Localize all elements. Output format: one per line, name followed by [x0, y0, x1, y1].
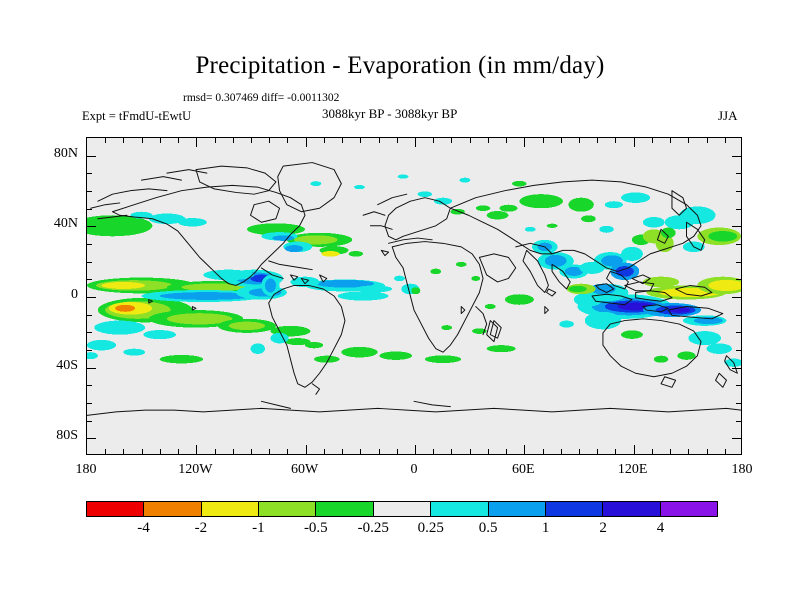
x-tick-top — [524, 138, 525, 147]
y-tick — [87, 262, 92, 263]
colorbar-band-4 — [316, 502, 373, 516]
y-tick — [87, 173, 92, 174]
x-tick-top — [597, 138, 598, 143]
x-tick — [597, 449, 598, 454]
x-tick-top — [634, 138, 635, 147]
x-tick-top — [178, 138, 179, 143]
colorbar-band-10 — [661, 502, 717, 516]
colorbar-tick-label: 0.25 — [401, 520, 461, 537]
x-tick — [105, 449, 106, 454]
y-tick-right — [736, 209, 741, 210]
x-axis-label: 120E — [593, 462, 673, 478]
y-tick-right — [736, 191, 741, 192]
colorbar-tick-label: 4 — [631, 520, 691, 537]
colorbar-band-0 — [87, 502, 144, 516]
x-tick-top — [251, 138, 252, 143]
y-tick-right — [732, 438, 741, 439]
x-tick-top — [433, 138, 434, 143]
y-tick-right — [732, 156, 741, 157]
y-tick-right — [736, 332, 741, 333]
colorbar-band-2 — [202, 502, 259, 516]
map-svg — [87, 138, 741, 454]
x-tick — [251, 449, 252, 454]
y-axis-label: 0 — [32, 287, 78, 303]
colorbar-band-1 — [144, 502, 201, 516]
x-tick-top — [360, 138, 361, 143]
x-axis-label: 120W — [155, 462, 235, 478]
x-tick-top — [579, 138, 580, 143]
x-tick-top — [215, 138, 216, 143]
x-tick — [360, 449, 361, 454]
x-tick — [707, 449, 708, 454]
x-tick — [215, 449, 216, 454]
x-tick — [415, 445, 416, 454]
x-tick — [670, 449, 671, 454]
y-tick-right — [736, 262, 741, 263]
x-tick — [561, 449, 562, 454]
x-tick-top — [652, 138, 653, 143]
y-tick — [87, 156, 96, 157]
y-tick-right — [736, 350, 741, 351]
x-tick — [123, 449, 124, 454]
y-tick — [87, 350, 92, 351]
y-tick — [87, 226, 96, 227]
y-tick-right — [732, 297, 741, 298]
y-tick — [87, 191, 92, 192]
x-tick-top — [379, 138, 380, 143]
x-tick — [160, 449, 161, 454]
y-tick — [87, 332, 92, 333]
x-tick-top — [725, 138, 726, 143]
y-tick-right — [732, 226, 741, 227]
x-tick-top — [142, 138, 143, 143]
y-tick — [87, 421, 92, 422]
x-tick — [524, 445, 525, 454]
colorbar-tick-label: -0.25 — [343, 520, 403, 537]
x-tick-top — [306, 138, 307, 147]
y-tick — [87, 315, 92, 316]
x-tick-top — [105, 138, 106, 143]
x-tick-top — [287, 138, 288, 143]
y-tick-right — [736, 403, 741, 404]
x-tick — [652, 449, 653, 454]
colorbar-tick-label: 0.5 — [458, 520, 518, 537]
x-axis-label: 180 — [702, 462, 782, 478]
x-tick — [287, 449, 288, 454]
x-tick — [397, 449, 398, 454]
x-tick-top — [269, 138, 270, 143]
colorbar-tick-label: -4 — [113, 520, 173, 537]
x-tick — [233, 449, 234, 454]
x-tick — [634, 445, 635, 454]
y-tick-right — [736, 279, 741, 280]
y-tick-right — [736, 421, 741, 422]
x-tick-top — [415, 138, 416, 147]
x-tick — [615, 449, 616, 454]
colorbar-band-5 — [374, 502, 431, 516]
experiment-annotation: Expt = tFmdU-tEwtU — [82, 109, 191, 124]
season-annotation: JJA — [718, 108, 738, 124]
x-tick — [470, 449, 471, 454]
x-tick — [269, 449, 270, 454]
x-tick-top — [451, 138, 452, 143]
period-annotation: 3088kyr BP - 3088kyr BP — [322, 106, 457, 122]
x-tick-top — [670, 138, 671, 143]
x-tick-top — [688, 138, 689, 143]
x-tick — [451, 449, 452, 454]
x-tick — [543, 449, 544, 454]
y-tick — [87, 244, 92, 245]
y-axis-label: 80N — [32, 146, 78, 162]
y-axis-label: 80S — [32, 428, 78, 444]
y-tick — [87, 368, 96, 369]
x-axis-label: 180 — [46, 462, 126, 478]
x-axis-label: 60W — [265, 462, 345, 478]
y-tick-right — [736, 244, 741, 245]
y-tick — [87, 438, 96, 439]
colorbar-band-7 — [489, 502, 546, 516]
chart-title: Precipitation - Evaporation (in mm/day) — [0, 52, 800, 80]
x-axis-label: 0 — [374, 462, 454, 478]
x-tick-top — [707, 138, 708, 143]
colorbar-tick-label: 1 — [516, 520, 576, 537]
x-tick — [342, 449, 343, 454]
x-tick — [196, 445, 197, 454]
x-tick — [142, 449, 143, 454]
x-tick — [688, 449, 689, 454]
colorbar-band-6 — [431, 502, 488, 516]
x-tick — [379, 449, 380, 454]
y-tick — [87, 279, 92, 280]
x-tick-top — [506, 138, 507, 143]
colorbar-tick-label: 2 — [573, 520, 633, 537]
x-tick-top — [123, 138, 124, 143]
y-tick — [87, 403, 92, 404]
x-tick — [306, 445, 307, 454]
y-tick-right — [736, 173, 741, 174]
x-tick — [433, 449, 434, 454]
x-tick-top — [324, 138, 325, 143]
y-tick — [87, 297, 96, 298]
x-tick-top — [196, 138, 197, 147]
y-tick — [87, 385, 92, 386]
y-tick — [87, 209, 92, 210]
y-tick-right — [736, 315, 741, 316]
colorbar-tick-label: -2 — [171, 520, 231, 537]
x-tick — [324, 449, 325, 454]
x-tick — [579, 449, 580, 454]
anomaly-field — [87, 175, 741, 367]
y-axis-label: 40N — [32, 216, 78, 232]
x-axis-label: 60E — [483, 462, 563, 478]
colorbar-band-3 — [259, 502, 316, 516]
x-tick-top — [615, 138, 616, 143]
colorbar-band-8 — [546, 502, 603, 516]
x-tick-top — [543, 138, 544, 143]
x-tick — [506, 449, 507, 454]
y-axis-label: 40S — [32, 358, 78, 374]
map-plot-area — [86, 137, 742, 455]
colorbar-tick-label: -1 — [228, 520, 288, 537]
colorbar-tick-label: -0.5 — [286, 520, 346, 537]
x-tick-top — [488, 138, 489, 143]
x-tick-top — [561, 138, 562, 143]
map-canvas — [87, 138, 741, 454]
x-tick — [725, 449, 726, 454]
x-tick — [488, 449, 489, 454]
y-tick-right — [732, 368, 741, 369]
x-tick-top — [233, 138, 234, 143]
x-tick — [178, 449, 179, 454]
x-tick-top — [397, 138, 398, 143]
x-tick-top — [470, 138, 471, 143]
x-tick-top — [342, 138, 343, 143]
y-tick-right — [736, 385, 741, 386]
colorbar-band-9 — [603, 502, 660, 516]
colorbar — [86, 501, 718, 517]
x-tick-top — [160, 138, 161, 143]
rmsd-annotation: rmsd= 0.307469 diff= -0.0011302 — [183, 92, 339, 104]
